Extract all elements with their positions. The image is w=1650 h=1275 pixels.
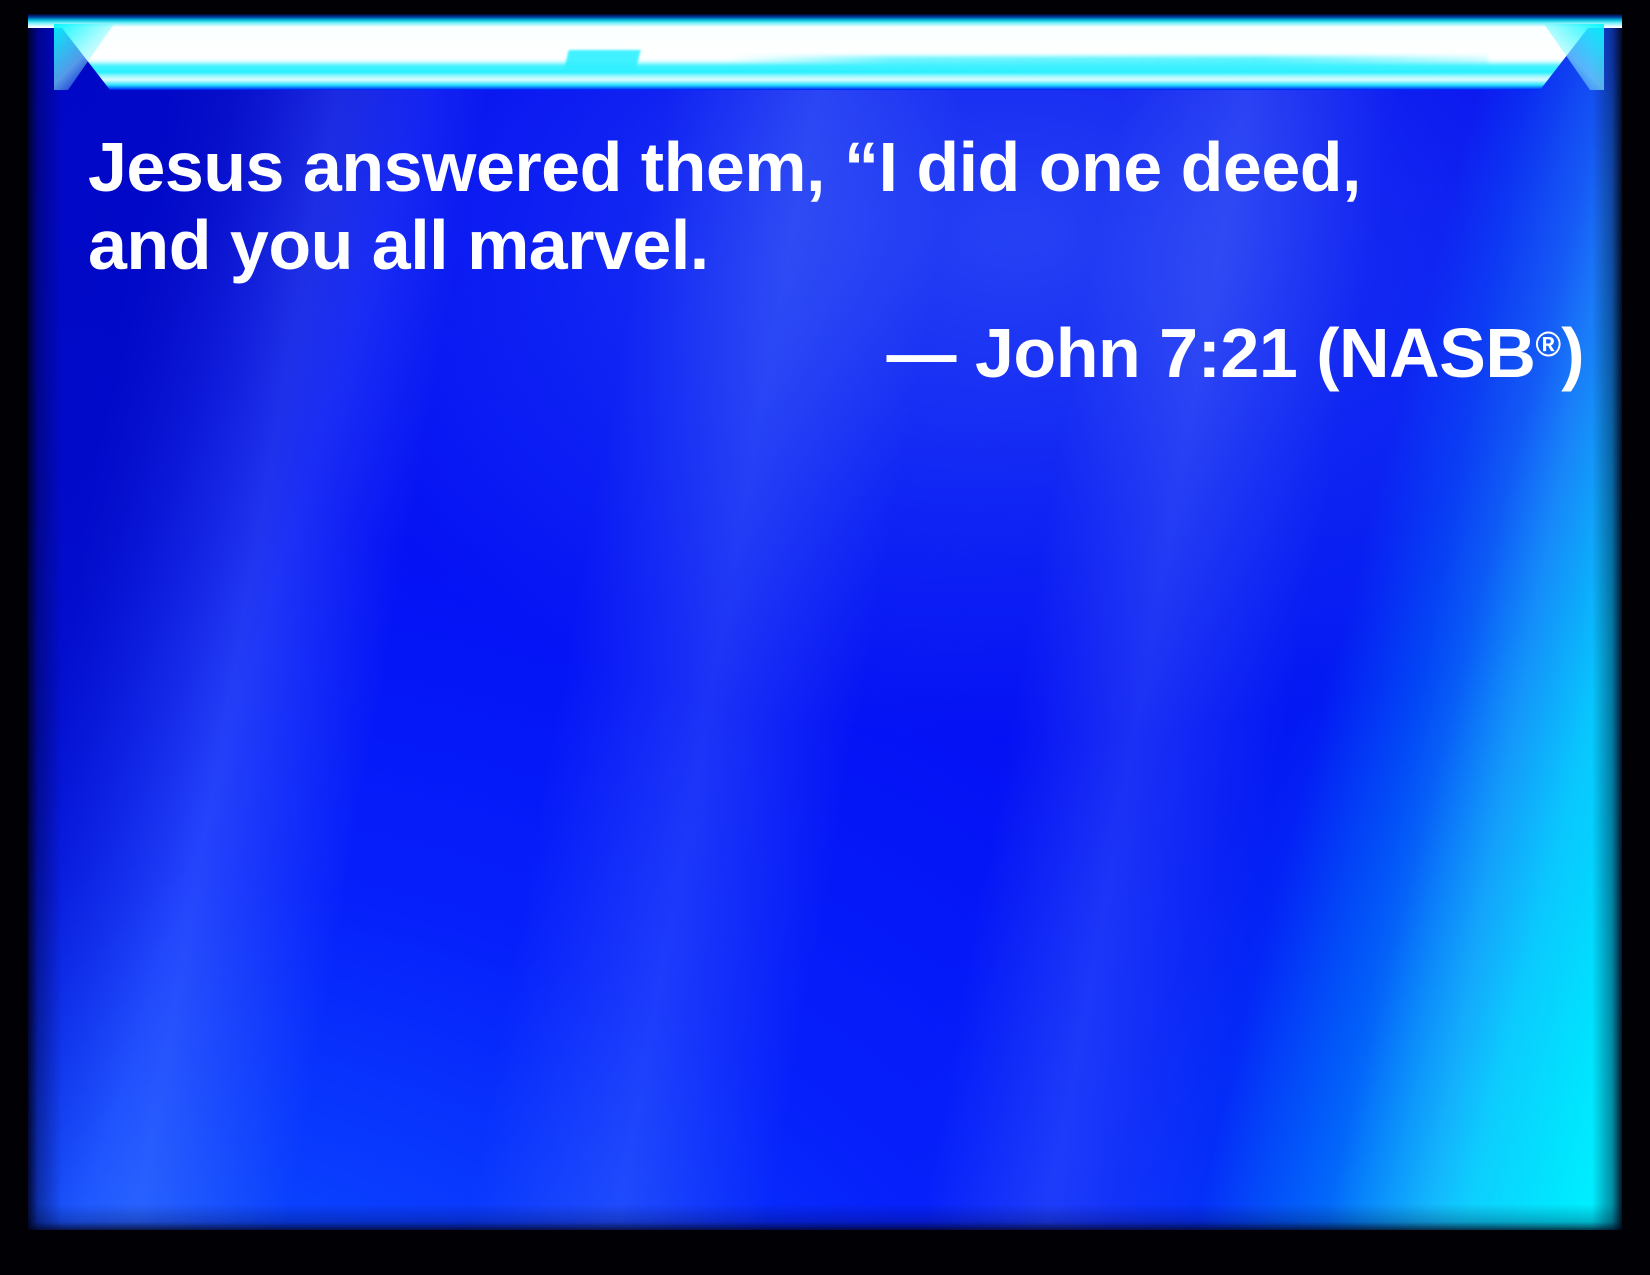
registered-trademark-icon: ® <box>1535 325 1561 364</box>
scripture-slide: Jesus answered them, “I did one deed, an… <box>0 0 1650 1275</box>
verse-line-1: Jesus answered them, “I did one deed, <box>88 128 1568 206</box>
citation-reference: 7:21 <box>1159 314 1297 392</box>
verse-citation: — John 7:21 (NASB®) <box>887 306 1584 392</box>
verse-line-2: and you all marvel. <box>88 206 1568 284</box>
citation-translation-close: ) <box>1561 314 1584 392</box>
slide-background: Jesus answered them, “I did one deed, an… <box>28 14 1622 1230</box>
citation-translation-open: (NASB <box>1316 314 1535 392</box>
band-cyan-notch <box>563 50 640 72</box>
band-cyan-streak <box>728 56 1488 70</box>
top-glow-band <box>28 14 1622 90</box>
citation-dash: — <box>887 314 957 392</box>
citation-book: John <box>975 314 1140 392</box>
band-white-core <box>28 14 1622 90</box>
